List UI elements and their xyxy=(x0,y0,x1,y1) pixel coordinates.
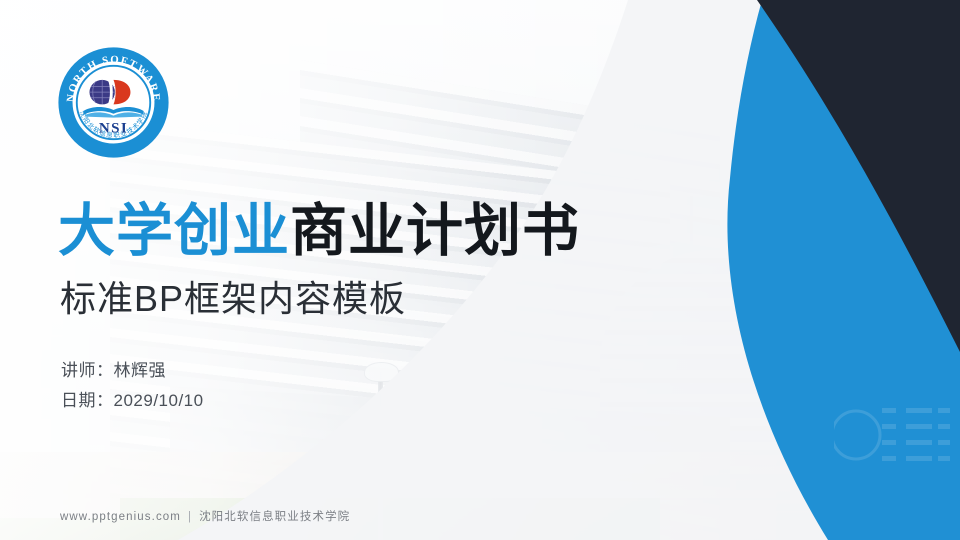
presenter-row: 讲师：林辉强 xyxy=(61,356,204,386)
footer-website[interactable]: www.pptgenius.com xyxy=(60,511,181,523)
footer-separator: | xyxy=(188,511,192,523)
slide-meta: 讲师：林辉强 日期：2029/10/10 xyxy=(61,356,204,416)
date-value: 2029/10/10 xyxy=(114,391,204,410)
footer-organization: 沈阳北软信息职业技术学院 xyxy=(199,511,350,523)
logo-initials: NSI xyxy=(99,121,128,137)
slide-subtitle: 标准BP框架内容模板 xyxy=(60,278,406,319)
slide-title: 大学创业商业计划书 xyxy=(58,200,580,264)
presenter-label: 讲师： xyxy=(61,361,114,380)
title-dark-part: 商业计划书 xyxy=(290,199,580,263)
presenter-name: 林辉强 xyxy=(114,361,167,380)
date-label: 日期： xyxy=(61,391,114,410)
presentation-slide: NORTH SOFTWARE 沈阳北软信息职业技术学院 NSI 大学创业商业计划… xyxy=(0,0,960,540)
title-accent-part: 大学创业 xyxy=(58,199,290,263)
slide-footer: www.pptgenius.com|沈阳北软信息职业技术学院 xyxy=(60,508,350,524)
date-row: 日期：2029/10/10 xyxy=(61,386,204,416)
university-logo: NORTH SOFTWARE 沈阳北软信息职业技术学院 NSI xyxy=(57,46,170,159)
